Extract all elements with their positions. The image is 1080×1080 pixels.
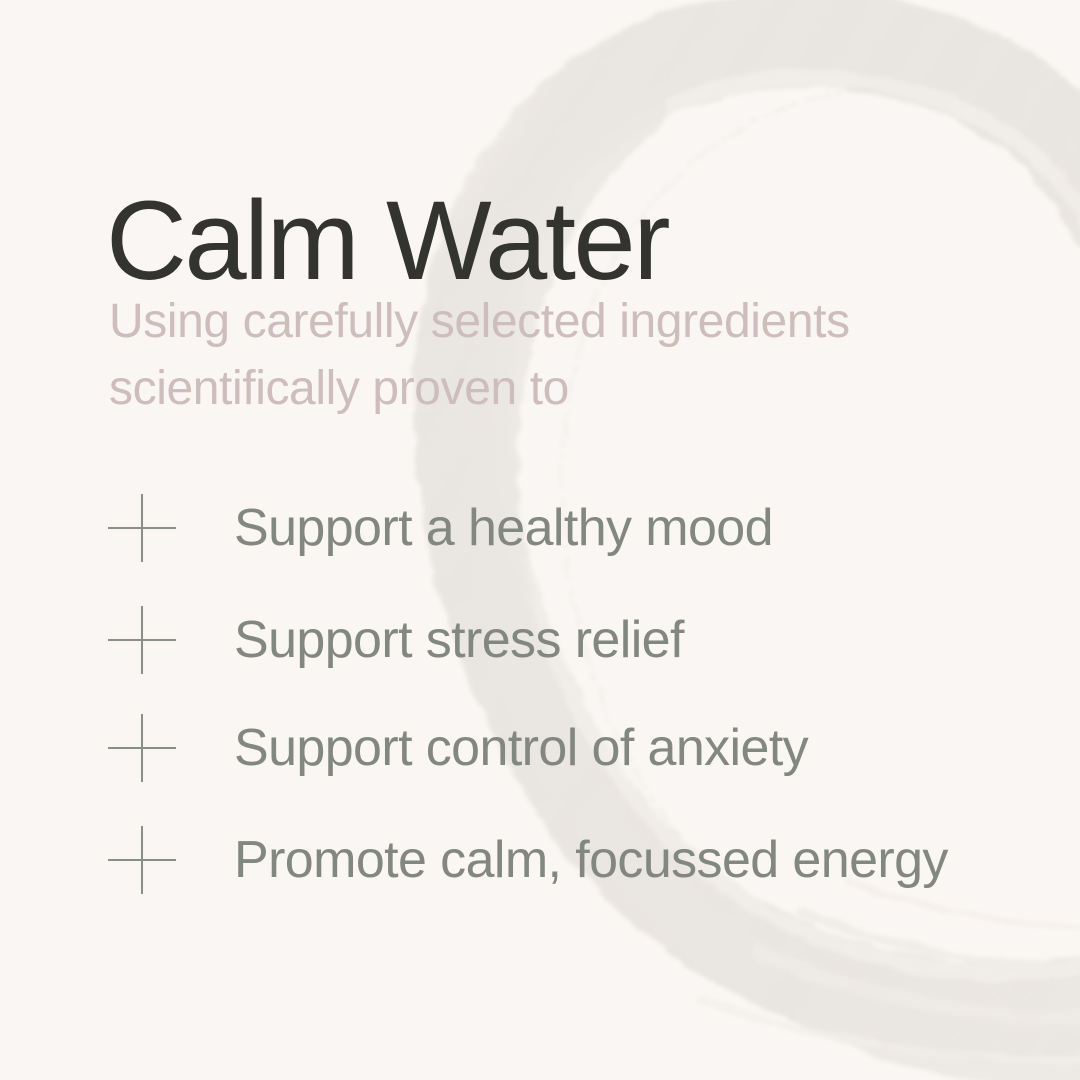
page-title: Calm Water <box>106 185 668 297</box>
plus-icon <box>108 714 176 782</box>
benefit-label: Support a healthy mood <box>234 494 773 562</box>
benefit-label: Support control of anxiety <box>234 714 808 782</box>
list-item: Support stress relief <box>108 606 684 674</box>
plus-icon <box>108 826 176 894</box>
subtitle: Using carefully selected ingredients sci… <box>109 288 899 422</box>
list-item: Support a healthy mood <box>108 494 773 562</box>
benefit-label: Promote calm, focussed energy <box>234 826 948 894</box>
list-item: Promote calm, focussed energy <box>108 826 948 894</box>
plus-icon <box>108 494 176 562</box>
list-item: Support control of anxiety <box>108 714 808 782</box>
poster-canvas: Calm Water Using carefully selected ingr… <box>0 0 1080 1080</box>
subtitle-line-2: scientifically proven to <box>109 355 899 422</box>
subtitle-line-1: Using carefully selected ingredients <box>109 288 899 355</box>
poster-content: Calm Water Using carefully selected ingr… <box>0 0 1080 1080</box>
benefit-label: Support stress relief <box>234 606 684 674</box>
plus-icon <box>108 606 176 674</box>
